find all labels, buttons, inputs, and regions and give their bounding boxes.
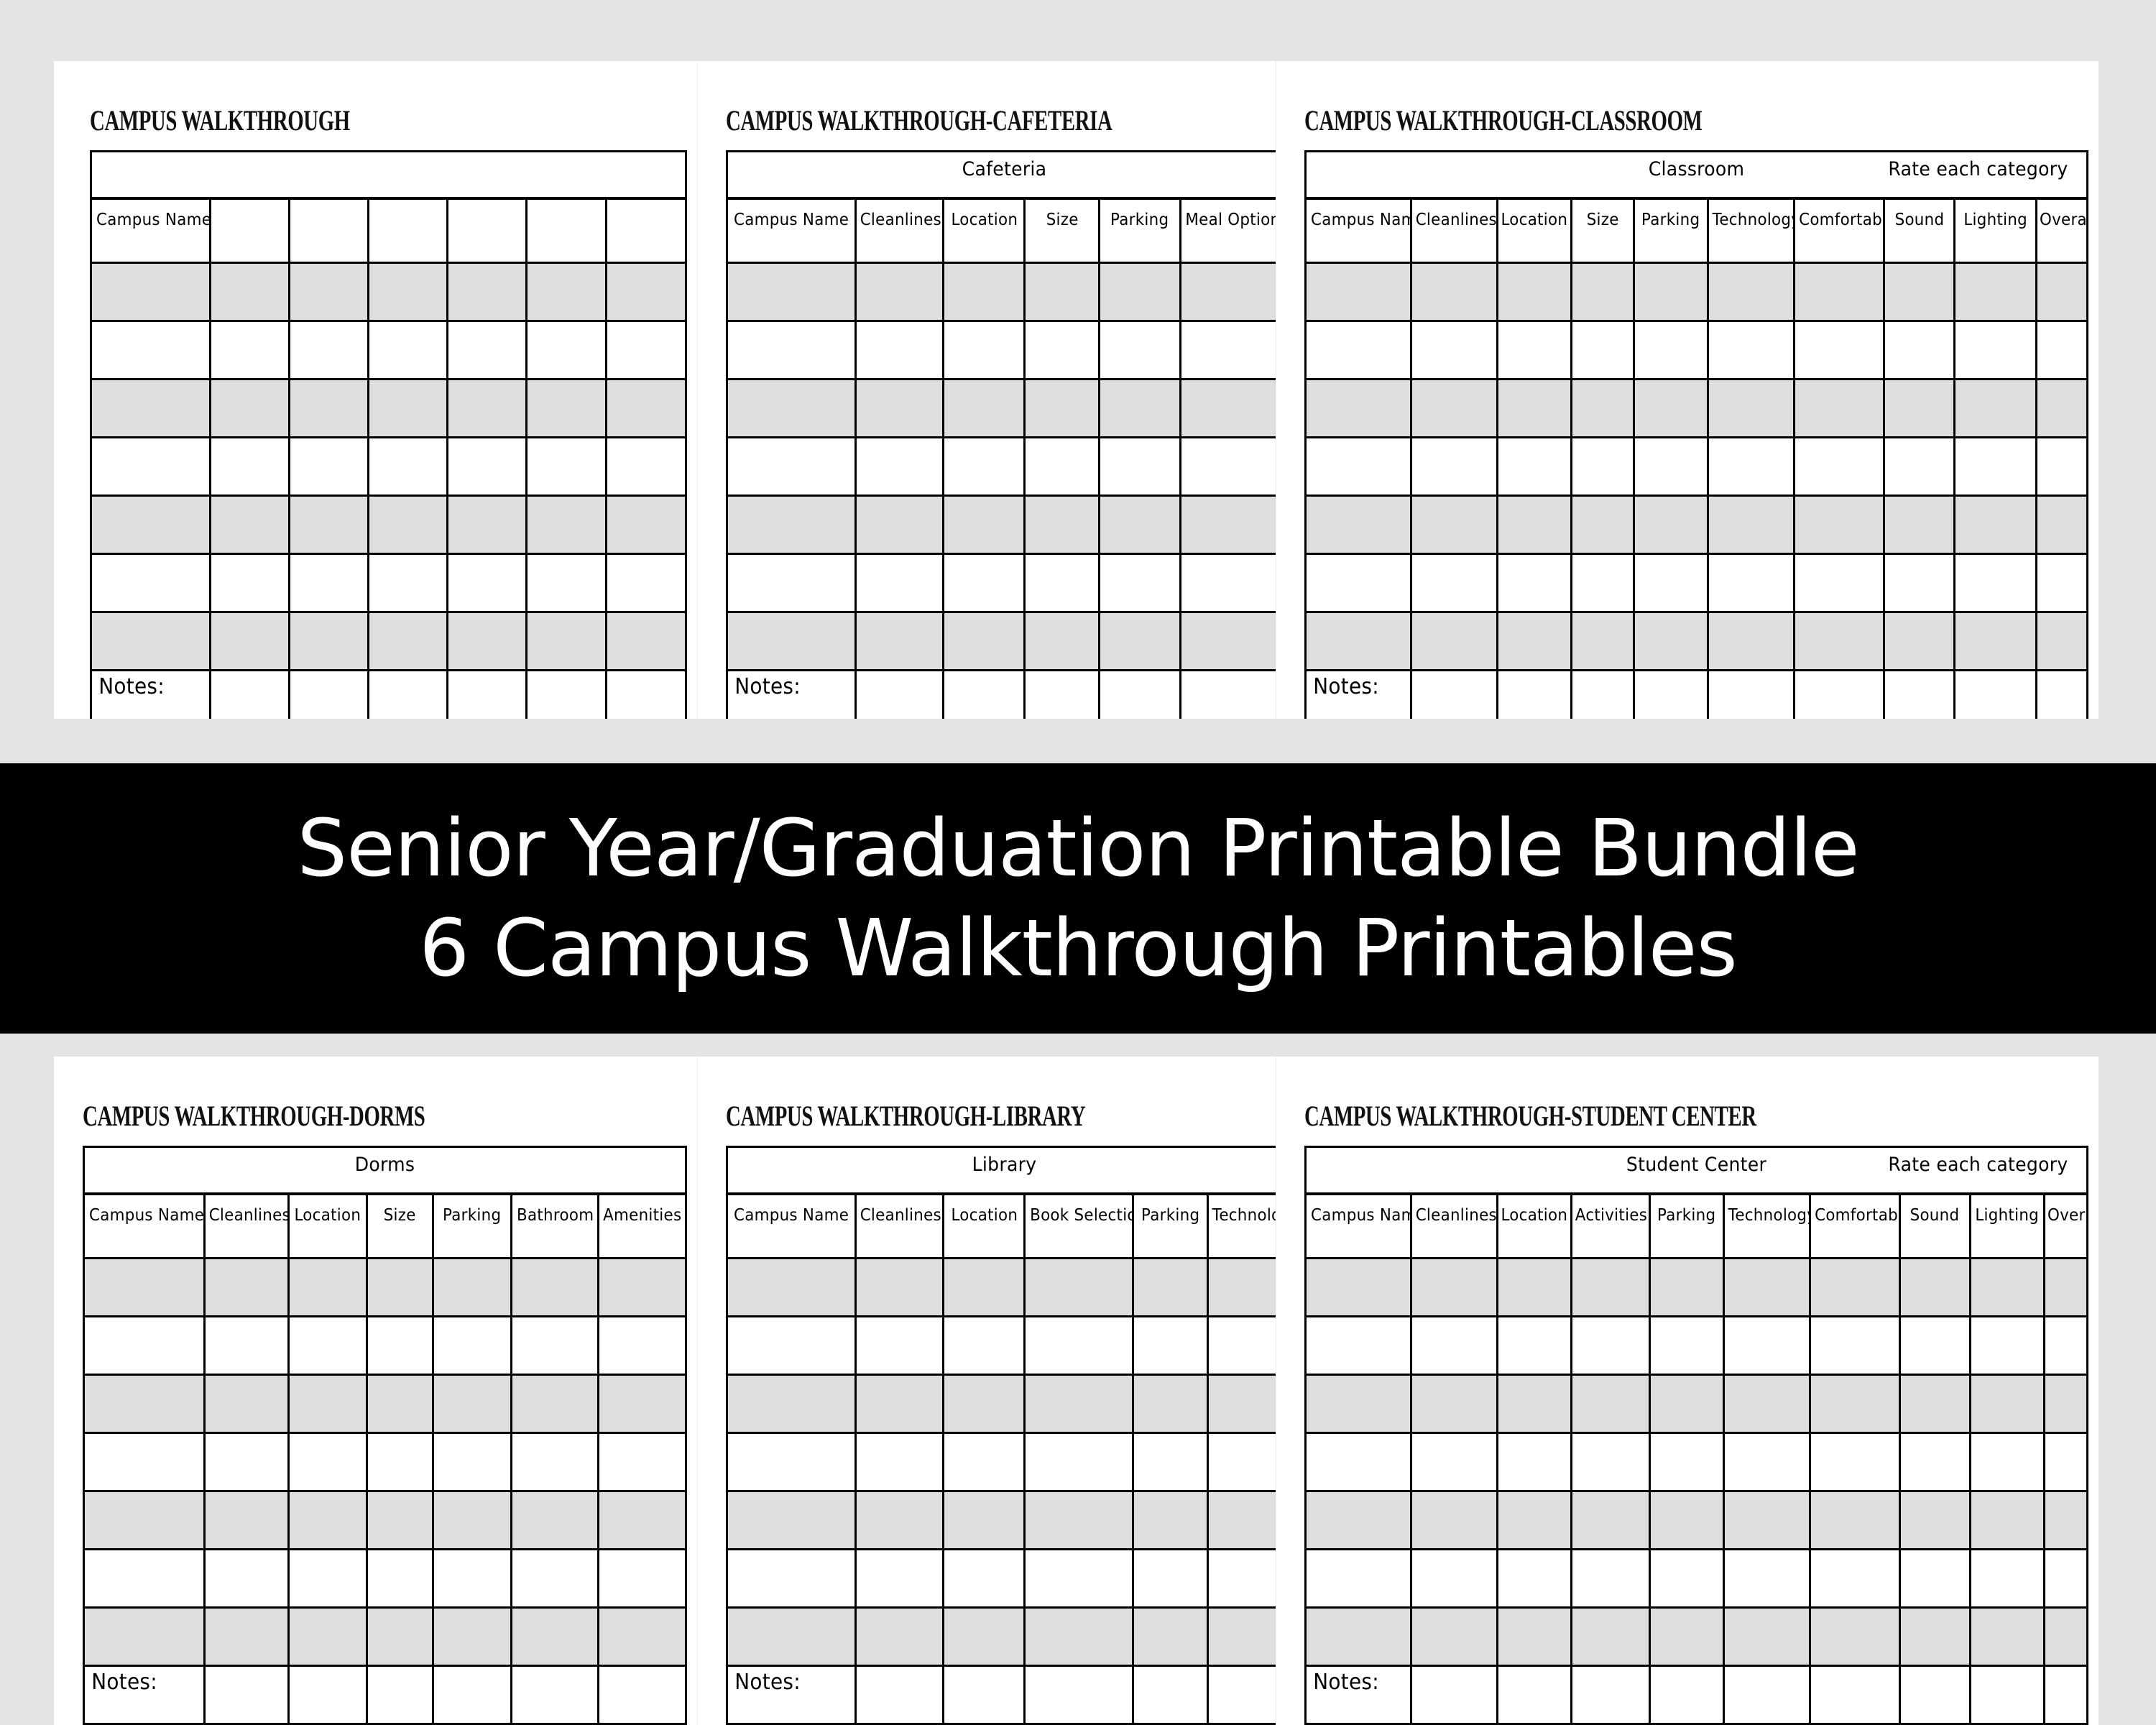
entry-cell[interactable] bbox=[1497, 1317, 1571, 1375]
entry-cell[interactable] bbox=[1497, 1666, 1571, 1724]
entry-cell[interactable] bbox=[1025, 1259, 1133, 1317]
entry-cell[interactable] bbox=[1497, 1433, 1571, 1491]
entry-cell[interactable] bbox=[1884, 379, 1955, 438]
entry-cell[interactable] bbox=[1025, 1666, 1133, 1724]
table-row[interactable] bbox=[727, 612, 1276, 671]
entry-cell[interactable] bbox=[368, 438, 447, 496]
entry-cell[interactable] bbox=[1133, 1666, 1208, 1724]
entry-cell[interactable] bbox=[91, 496, 211, 554]
notes-row[interactable]: Notes: bbox=[1306, 671, 2088, 719]
entry-cell[interactable] bbox=[91, 263, 211, 321]
table-row[interactable] bbox=[727, 1433, 1276, 1491]
table-row[interactable] bbox=[91, 554, 686, 612]
table-row[interactable] bbox=[84, 1491, 686, 1550]
entry-cell[interactable] bbox=[1025, 1375, 1133, 1433]
entry-cell[interactable] bbox=[527, 438, 607, 496]
entry-cell[interactable] bbox=[84, 1259, 205, 1317]
entry-cell[interactable] bbox=[289, 263, 368, 321]
entry-cell[interactable] bbox=[1181, 321, 1276, 379]
entry-cell[interactable] bbox=[84, 1317, 205, 1375]
table-row[interactable] bbox=[1306, 1433, 2088, 1491]
entry-cell[interactable] bbox=[1207, 1317, 1276, 1375]
entry-cell[interactable] bbox=[1133, 1317, 1208, 1375]
entry-cell[interactable] bbox=[288, 1608, 367, 1666]
entry-cell[interactable] bbox=[1497, 1550, 1571, 1608]
entry-cell[interactable] bbox=[1634, 554, 1708, 612]
entry-cell[interactable] bbox=[1025, 612, 1100, 671]
entry-cell[interactable] bbox=[1571, 1608, 1649, 1666]
entry-cell[interactable] bbox=[1100, 379, 1181, 438]
entry-cell[interactable] bbox=[1181, 554, 1276, 612]
entry-cell[interactable] bbox=[727, 554, 856, 612]
entry-cell[interactable] bbox=[1306, 1608, 1411, 1666]
entry-cell[interactable] bbox=[944, 1491, 1025, 1550]
entry-cell[interactable] bbox=[1571, 1433, 1649, 1491]
entry-cell[interactable] bbox=[368, 612, 447, 671]
table-row[interactable] bbox=[84, 1608, 686, 1666]
entry-cell[interactable] bbox=[1306, 1317, 1411, 1375]
notes-row[interactable]: Notes: bbox=[1306, 1666, 2088, 1724]
entry-cell[interactable] bbox=[91, 612, 211, 671]
entry-cell[interactable] bbox=[599, 1550, 686, 1608]
entry-cell[interactable] bbox=[1306, 1375, 1411, 1433]
entry-cell[interactable] bbox=[1306, 554, 1411, 612]
entry-cell[interactable] bbox=[1181, 496, 1276, 554]
entry-cell[interactable] bbox=[727, 263, 856, 321]
entry-cell[interactable] bbox=[1411, 671, 1497, 719]
entry-cell[interactable] bbox=[210, 496, 289, 554]
entry-cell[interactable] bbox=[606, 554, 686, 612]
entry-cell[interactable] bbox=[1884, 263, 1955, 321]
entry-cell[interactable] bbox=[1970, 1608, 2044, 1666]
entry-cell[interactable] bbox=[1724, 1608, 1810, 1666]
entry-cell[interactable] bbox=[1411, 1608, 1497, 1666]
entry-cell[interactable] bbox=[433, 1375, 512, 1433]
entry-cell[interactable] bbox=[727, 496, 856, 554]
entry-cell[interactable] bbox=[1899, 1550, 1970, 1608]
entry-cell[interactable] bbox=[2045, 1550, 2088, 1608]
entry-cell[interactable] bbox=[606, 379, 686, 438]
entry-cell[interactable] bbox=[599, 1491, 686, 1550]
entry-cell[interactable] bbox=[727, 1491, 856, 1550]
table-row[interactable] bbox=[91, 612, 686, 671]
entry-cell[interactable] bbox=[1884, 321, 1955, 379]
entry-cell[interactable] bbox=[1571, 554, 1634, 612]
entry-cell[interactable] bbox=[1025, 1491, 1133, 1550]
entry-cell[interactable] bbox=[1306, 1491, 1411, 1550]
entry-cell[interactable] bbox=[204, 1608, 288, 1666]
entry-cell[interactable] bbox=[91, 554, 211, 612]
entry-cell[interactable] bbox=[1497, 671, 1571, 719]
entry-cell[interactable] bbox=[204, 1375, 288, 1433]
entry-cell[interactable] bbox=[368, 554, 447, 612]
entry-cell[interactable] bbox=[599, 1317, 686, 1375]
entry-cell[interactable] bbox=[1794, 612, 1884, 671]
entry-cell[interactable] bbox=[288, 1433, 367, 1491]
entry-cell[interactable] bbox=[1970, 1666, 2044, 1724]
table-row[interactable] bbox=[1306, 321, 2088, 379]
entry-cell[interactable] bbox=[1306, 1259, 1411, 1317]
entry-cell[interactable] bbox=[204, 1259, 288, 1317]
entry-cell[interactable] bbox=[91, 438, 211, 496]
entry-cell[interactable] bbox=[368, 671, 447, 719]
entry-cell[interactable] bbox=[1411, 1491, 1497, 1550]
entry-cell[interactable] bbox=[91, 321, 211, 379]
entry-cell[interactable] bbox=[1207, 1259, 1276, 1317]
entry-cell[interactable] bbox=[1571, 496, 1634, 554]
entry-cell[interactable] bbox=[1899, 1259, 1970, 1317]
entry-cell[interactable] bbox=[1884, 612, 1955, 671]
notes-cell[interactable]: Notes: bbox=[1306, 671, 1411, 719]
entry-cell[interactable] bbox=[511, 1317, 599, 1375]
entry-cell[interactable] bbox=[1411, 1433, 1497, 1491]
entry-cell[interactable] bbox=[944, 1666, 1025, 1724]
entry-cell[interactable] bbox=[527, 554, 607, 612]
entry-cell[interactable] bbox=[511, 1259, 599, 1317]
entry-cell[interactable] bbox=[727, 321, 856, 379]
entry-cell[interactable] bbox=[368, 496, 447, 554]
entry-cell[interactable] bbox=[855, 321, 943, 379]
entry-cell[interactable] bbox=[2037, 438, 2088, 496]
notes-cell[interactable]: Notes: bbox=[727, 1666, 856, 1724]
entry-cell[interactable] bbox=[1571, 263, 1634, 321]
entry-cell[interactable] bbox=[1724, 1491, 1810, 1550]
entry-cell[interactable] bbox=[1794, 671, 1884, 719]
entry-cell[interactable] bbox=[855, 1491, 943, 1550]
entry-cell[interactable] bbox=[1571, 1491, 1649, 1550]
entry-cell[interactable] bbox=[1634, 671, 1708, 719]
entry-cell[interactable] bbox=[2045, 1666, 2088, 1724]
entry-cell[interactable] bbox=[204, 1433, 288, 1491]
entry-cell[interactable] bbox=[1634, 612, 1708, 671]
entry-cell[interactable] bbox=[368, 263, 447, 321]
entry-cell[interactable] bbox=[447, 379, 526, 438]
entry-cell[interactable] bbox=[2037, 321, 2088, 379]
table-row[interactable] bbox=[84, 1375, 686, 1433]
entry-cell[interactable] bbox=[727, 612, 856, 671]
entry-cell[interactable] bbox=[511, 1433, 599, 1491]
entry-cell[interactable] bbox=[2045, 1433, 2088, 1491]
entry-cell[interactable] bbox=[855, 379, 943, 438]
entry-cell[interactable] bbox=[1571, 612, 1634, 671]
entry-cell[interactable] bbox=[2045, 1608, 2088, 1666]
entry-cell[interactable] bbox=[2037, 671, 2088, 719]
table-row[interactable] bbox=[727, 1317, 1276, 1375]
entry-cell[interactable] bbox=[1411, 1317, 1497, 1375]
entry-cell[interactable] bbox=[1899, 1317, 1970, 1375]
table-row[interactable] bbox=[84, 1259, 686, 1317]
entry-cell[interactable] bbox=[727, 1433, 856, 1491]
entry-cell[interactable] bbox=[1649, 1491, 1723, 1550]
entry-cell[interactable] bbox=[606, 496, 686, 554]
entry-cell[interactable] bbox=[1884, 671, 1955, 719]
entry-cell[interactable] bbox=[1306, 321, 1411, 379]
entry-cell[interactable] bbox=[1411, 1550, 1497, 1608]
entry-cell[interactable] bbox=[511, 1491, 599, 1550]
table-row[interactable] bbox=[1306, 1375, 2088, 1433]
entry-cell[interactable] bbox=[1025, 1433, 1133, 1491]
entry-cell[interactable] bbox=[289, 321, 368, 379]
entry-cell[interactable] bbox=[1649, 1550, 1723, 1608]
entry-cell[interactable] bbox=[1571, 438, 1634, 496]
entry-cell[interactable] bbox=[1411, 1259, 1497, 1317]
entry-cell[interactable] bbox=[1899, 1433, 1970, 1491]
entry-cell[interactable] bbox=[1954, 496, 2036, 554]
entry-cell[interactable] bbox=[1794, 263, 1884, 321]
table-row[interactable] bbox=[1306, 612, 2088, 671]
entry-cell[interactable] bbox=[289, 438, 368, 496]
entry-cell[interactable] bbox=[527, 379, 607, 438]
entry-cell[interactable] bbox=[1724, 1317, 1810, 1375]
entry-cell[interactable] bbox=[1571, 1666, 1649, 1724]
entry-cell[interactable] bbox=[1207, 1608, 1276, 1666]
entry-cell[interactable] bbox=[1884, 554, 1955, 612]
entry-cell[interactable] bbox=[606, 263, 686, 321]
entry-cell[interactable] bbox=[1794, 321, 1884, 379]
entry-cell[interactable] bbox=[1954, 438, 2036, 496]
table-row[interactable] bbox=[84, 1550, 686, 1608]
entry-cell[interactable] bbox=[606, 438, 686, 496]
entry-cell[interactable] bbox=[1497, 1259, 1571, 1317]
entry-cell[interactable] bbox=[1100, 263, 1181, 321]
entry-cell[interactable] bbox=[1954, 554, 2036, 612]
entry-cell[interactable] bbox=[2037, 612, 2088, 671]
entry-cell[interactable] bbox=[1794, 379, 1884, 438]
entry-cell[interactable] bbox=[1899, 1375, 1970, 1433]
entry-cell[interactable] bbox=[84, 1375, 205, 1433]
entry-cell[interactable] bbox=[1708, 321, 1795, 379]
entry-cell[interactable] bbox=[1411, 438, 1497, 496]
entry-cell[interactable] bbox=[855, 496, 943, 554]
entry-cell[interactable] bbox=[1634, 321, 1708, 379]
entry-cell[interactable] bbox=[1708, 263, 1795, 321]
table-row[interactable] bbox=[727, 263, 1276, 321]
entry-cell[interactable] bbox=[1571, 1317, 1649, 1375]
entry-cell[interactable] bbox=[1810, 1666, 1899, 1724]
entry-cell[interactable] bbox=[204, 1317, 288, 1375]
entry-cell[interactable] bbox=[367, 1608, 433, 1666]
entry-cell[interactable] bbox=[1207, 1433, 1276, 1491]
entry-cell[interactable] bbox=[1571, 1259, 1649, 1317]
entry-cell[interactable] bbox=[1571, 1550, 1649, 1608]
entry-cell[interactable] bbox=[1497, 554, 1571, 612]
entry-cell[interactable] bbox=[1133, 1375, 1208, 1433]
notes-cell[interactable]: Notes: bbox=[1306, 1666, 1411, 1724]
entry-cell[interactable] bbox=[944, 379, 1025, 438]
entry-cell[interactable] bbox=[210, 263, 289, 321]
entry-cell[interactable] bbox=[1708, 379, 1795, 438]
table-row[interactable] bbox=[84, 1433, 686, 1491]
entry-cell[interactable] bbox=[944, 321, 1025, 379]
entry-cell[interactable] bbox=[511, 1608, 599, 1666]
entry-cell[interactable] bbox=[1970, 1375, 2044, 1433]
entry-cell[interactable] bbox=[527, 496, 607, 554]
entry-cell[interactable] bbox=[944, 1317, 1025, 1375]
table-row[interactable] bbox=[1306, 1608, 2088, 1666]
entry-cell[interactable] bbox=[527, 612, 607, 671]
entry-cell[interactable] bbox=[288, 1317, 367, 1375]
entry-cell[interactable] bbox=[433, 1259, 512, 1317]
table-row[interactable] bbox=[727, 1491, 1276, 1550]
entry-cell[interactable] bbox=[2045, 1491, 2088, 1550]
entry-cell[interactable] bbox=[204, 1550, 288, 1608]
entry-cell[interactable] bbox=[1497, 379, 1571, 438]
entry-cell[interactable] bbox=[944, 438, 1025, 496]
entry-cell[interactable] bbox=[1411, 496, 1497, 554]
entry-cell[interactable] bbox=[727, 438, 856, 496]
entry-cell[interactable] bbox=[1708, 671, 1795, 719]
entry-cell[interactable] bbox=[1810, 1259, 1899, 1317]
table-row[interactable] bbox=[91, 321, 686, 379]
entry-cell[interactable] bbox=[433, 1491, 512, 1550]
entry-cell[interactable] bbox=[84, 1491, 205, 1550]
entry-cell[interactable] bbox=[433, 1608, 512, 1666]
entry-cell[interactable] bbox=[1810, 1608, 1899, 1666]
entry-cell[interactable] bbox=[288, 1375, 367, 1433]
entry-cell[interactable] bbox=[447, 496, 526, 554]
entry-cell[interactable] bbox=[84, 1608, 205, 1666]
entry-cell[interactable] bbox=[367, 1491, 433, 1550]
entry-cell[interactable] bbox=[606, 321, 686, 379]
entry-cell[interactable] bbox=[433, 1666, 512, 1724]
entry-cell[interactable] bbox=[289, 554, 368, 612]
entry-cell[interactable] bbox=[855, 1608, 943, 1666]
entry-cell[interactable] bbox=[1207, 1375, 1276, 1433]
entry-cell[interactable] bbox=[511, 1550, 599, 1608]
entry-cell[interactable] bbox=[1181, 671, 1276, 719]
entry-cell[interactable] bbox=[1634, 379, 1708, 438]
entry-cell[interactable] bbox=[1649, 1259, 1723, 1317]
entry-cell[interactable] bbox=[1306, 612, 1411, 671]
entry-cell[interactable] bbox=[1025, 496, 1100, 554]
entry-cell[interactable] bbox=[447, 321, 526, 379]
entry-cell[interactable] bbox=[210, 612, 289, 671]
entry-cell[interactable] bbox=[727, 379, 856, 438]
table-row[interactable] bbox=[727, 1608, 1276, 1666]
entry-cell[interactable] bbox=[447, 612, 526, 671]
entry-cell[interactable] bbox=[855, 1259, 943, 1317]
entry-cell[interactable] bbox=[367, 1550, 433, 1608]
entry-cell[interactable] bbox=[1634, 438, 1708, 496]
table-row[interactable] bbox=[727, 554, 1276, 612]
entry-cell[interactable] bbox=[368, 379, 447, 438]
entry-cell[interactable] bbox=[368, 321, 447, 379]
entry-cell[interactable] bbox=[1899, 1608, 1970, 1666]
entry-cell[interactable] bbox=[527, 263, 607, 321]
table-row[interactable] bbox=[727, 438, 1276, 496]
entry-cell[interactable] bbox=[1899, 1666, 1970, 1724]
entry-cell[interactable] bbox=[1306, 438, 1411, 496]
entry-cell[interactable] bbox=[599, 1375, 686, 1433]
entry-cell[interactable] bbox=[1207, 1666, 1276, 1724]
table-row[interactable] bbox=[91, 263, 686, 321]
entry-cell[interactable] bbox=[1497, 1608, 1571, 1666]
entry-cell[interactable] bbox=[2037, 554, 2088, 612]
entry-cell[interactable] bbox=[1571, 671, 1634, 719]
entry-cell[interactable] bbox=[1649, 1433, 1723, 1491]
entry-cell[interactable] bbox=[1306, 263, 1411, 321]
entry-cell[interactable] bbox=[447, 263, 526, 321]
entry-cell[interactable] bbox=[289, 379, 368, 438]
entry-cell[interactable] bbox=[2037, 263, 2088, 321]
entry-cell[interactable] bbox=[1133, 1491, 1208, 1550]
entry-cell[interactable] bbox=[944, 263, 1025, 321]
entry-cell[interactable] bbox=[944, 1259, 1025, 1317]
entry-cell[interactable] bbox=[1411, 263, 1497, 321]
table-row[interactable] bbox=[727, 1375, 1276, 1433]
entry-cell[interactable] bbox=[1724, 1666, 1810, 1724]
entry-cell[interactable] bbox=[1306, 496, 1411, 554]
entry-cell[interactable] bbox=[1810, 1491, 1899, 1550]
entry-cell[interactable] bbox=[1025, 554, 1100, 612]
entry-cell[interactable] bbox=[447, 554, 526, 612]
entry-cell[interactable] bbox=[2037, 496, 2088, 554]
notes-row[interactable]: Notes: bbox=[727, 671, 1276, 719]
entry-cell[interactable] bbox=[1411, 1666, 1497, 1724]
entry-cell[interactable] bbox=[1025, 263, 1100, 321]
entry-cell[interactable] bbox=[1497, 438, 1571, 496]
entry-cell[interactable] bbox=[599, 1608, 686, 1666]
table-row[interactable] bbox=[1306, 496, 2088, 554]
entry-cell[interactable] bbox=[1025, 379, 1100, 438]
entry-cell[interactable] bbox=[289, 496, 368, 554]
entry-cell[interactable] bbox=[511, 1375, 599, 1433]
entry-cell[interactable] bbox=[1497, 496, 1571, 554]
entry-cell[interactable] bbox=[855, 554, 943, 612]
entry-cell[interactable] bbox=[855, 1433, 943, 1491]
entry-cell[interactable] bbox=[944, 612, 1025, 671]
entry-cell[interactable] bbox=[204, 1491, 288, 1550]
table-row[interactable] bbox=[1306, 1259, 2088, 1317]
entry-cell[interactable] bbox=[367, 1375, 433, 1433]
notes-row[interactable]: Notes: bbox=[84, 1666, 686, 1724]
entry-cell[interactable] bbox=[727, 1259, 856, 1317]
entry-cell[interactable] bbox=[944, 496, 1025, 554]
entry-cell[interactable] bbox=[1025, 671, 1100, 719]
entry-cell[interactable] bbox=[2045, 1259, 2088, 1317]
entry-cell[interactable] bbox=[1025, 1550, 1133, 1608]
entry-cell[interactable] bbox=[1810, 1317, 1899, 1375]
table-row[interactable] bbox=[727, 321, 1276, 379]
entry-cell[interactable] bbox=[447, 438, 526, 496]
entry-cell[interactable] bbox=[1411, 612, 1497, 671]
entry-cell[interactable] bbox=[1497, 263, 1571, 321]
entry-cell[interactable] bbox=[727, 1375, 856, 1433]
entry-cell[interactable] bbox=[1794, 438, 1884, 496]
entry-cell[interactable] bbox=[1954, 612, 2036, 671]
entry-cell[interactable] bbox=[367, 1666, 433, 1724]
entry-cell[interactable] bbox=[1100, 438, 1181, 496]
entry-cell[interactable] bbox=[944, 1375, 1025, 1433]
entry-cell[interactable] bbox=[1724, 1259, 1810, 1317]
entry-cell[interactable] bbox=[855, 671, 943, 719]
entry-cell[interactable] bbox=[1884, 496, 1955, 554]
entry-cell[interactable] bbox=[1207, 1550, 1276, 1608]
entry-cell[interactable] bbox=[1954, 379, 2036, 438]
notes-cell[interactable]: Notes: bbox=[84, 1666, 205, 1724]
notes-row[interactable]: Notes: bbox=[91, 671, 686, 719]
entry-cell[interactable] bbox=[433, 1433, 512, 1491]
entry-cell[interactable] bbox=[1571, 321, 1634, 379]
table-row[interactable] bbox=[727, 496, 1276, 554]
entry-cell[interactable] bbox=[447, 671, 526, 719]
entry-cell[interactable] bbox=[2045, 1317, 2088, 1375]
entry-cell[interactable] bbox=[1724, 1433, 1810, 1491]
entry-cell[interactable] bbox=[1181, 612, 1276, 671]
entry-cell[interactable] bbox=[855, 438, 943, 496]
entry-cell[interactable] bbox=[1497, 1491, 1571, 1550]
entry-cell[interactable] bbox=[1649, 1608, 1723, 1666]
